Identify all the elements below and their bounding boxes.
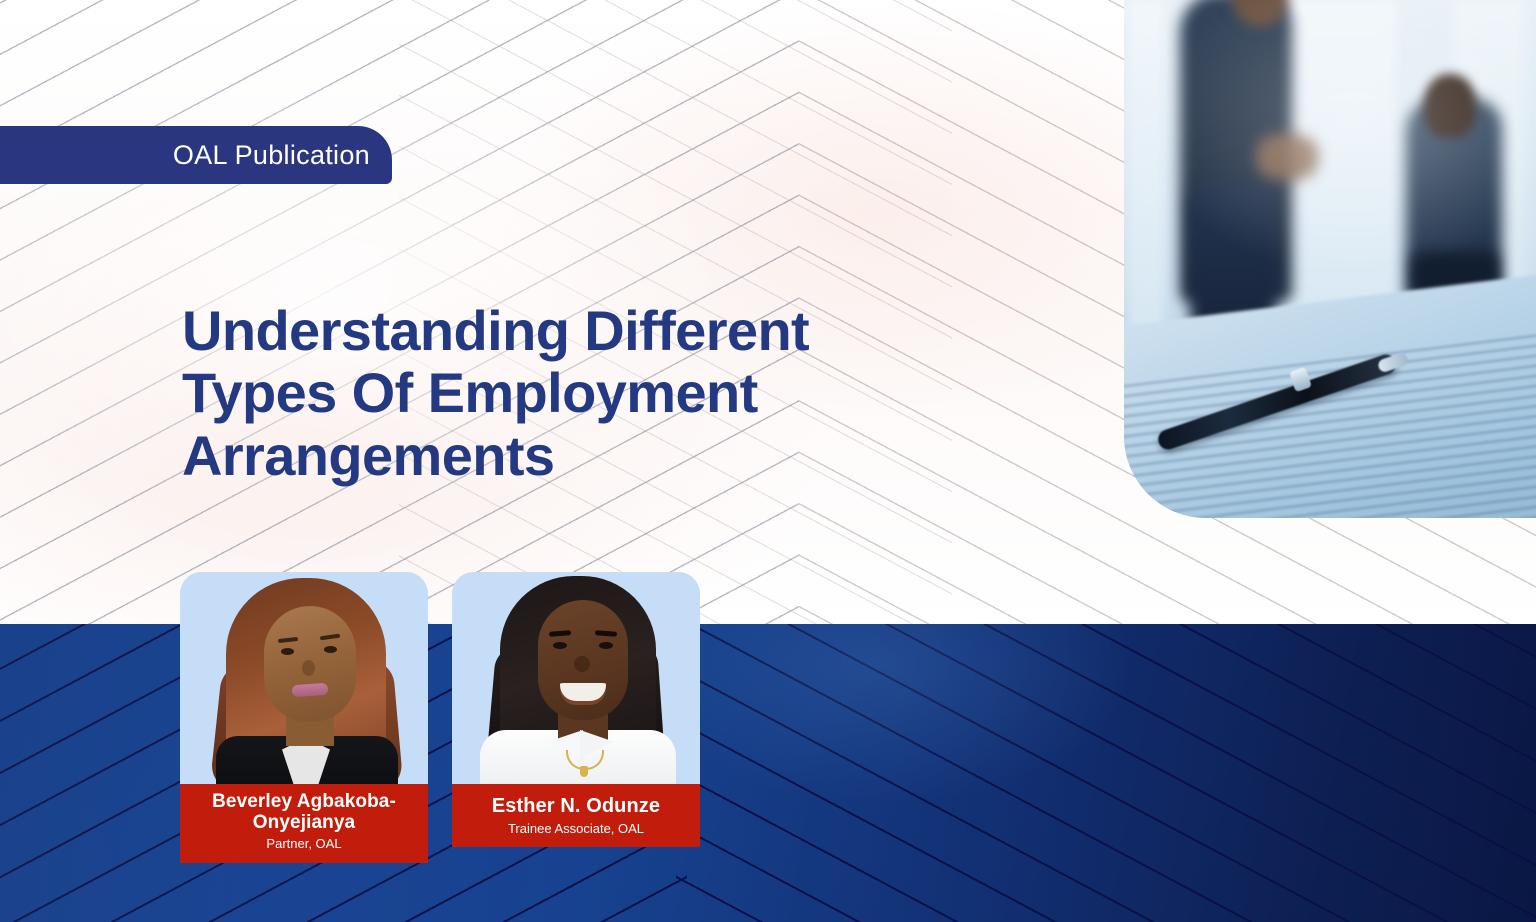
- publication-cover: OAL Publication Understanding Different …: [0, 0, 1536, 922]
- hero-image: [1124, 0, 1536, 518]
- portrait-mouth: [292, 683, 329, 697]
- portrait-mouth: [560, 680, 606, 701]
- avatar-esther: [452, 572, 700, 784]
- navy-chevron-lines-right: [676, 624, 1536, 922]
- hero-figure-right-head: [1424, 74, 1476, 138]
- author-role: Partner, OAL: [190, 835, 418, 853]
- publication-badge: OAL Publication: [0, 126, 392, 184]
- portrait-eye: [599, 642, 613, 649]
- page-title: Understanding Different Types Of Employm…: [182, 300, 942, 488]
- author-name-plate: Esther N. Odunze Trainee Associate, OAL: [452, 784, 700, 847]
- author-card-esther: Esther N. Odunze Trainee Associate, OAL: [452, 572, 700, 847]
- avatar-beverley: [180, 572, 428, 784]
- page-title-line-2: Types Of Employment: [182, 362, 942, 425]
- publication-badge-label: OAL Publication: [173, 140, 370, 171]
- author-list: Beverley Agbakoba- Onyejianya Partner, O…: [180, 572, 700, 863]
- portrait-eye: [553, 642, 567, 649]
- portrait-pendant: [580, 766, 588, 777]
- portrait-eye: [281, 648, 294, 655]
- portrait-eye: [324, 646, 337, 653]
- author-name-plate: Beverley Agbakoba- Onyejianya Partner, O…: [180, 784, 428, 863]
- author-name: Esther N. Odunze: [462, 796, 690, 818]
- hero-window-pillar: [1128, 0, 1164, 330]
- author-role: Trainee Associate, OAL: [462, 820, 690, 838]
- author-card-beverley: Beverley Agbakoba- Onyejianya Partner, O…: [180, 572, 428, 863]
- hero-figure-left-arm: [1256, 134, 1318, 180]
- portrait-nose: [574, 656, 590, 672]
- portrait-nose: [302, 660, 315, 676]
- page-title-line-1: Understanding Different: [182, 300, 942, 363]
- author-name-line-2: Onyejianya: [190, 813, 418, 834]
- page-title-line-3: Arrangements: [182, 425, 942, 488]
- author-name-line-1: Beverley Agbakoba-: [190, 792, 418, 813]
